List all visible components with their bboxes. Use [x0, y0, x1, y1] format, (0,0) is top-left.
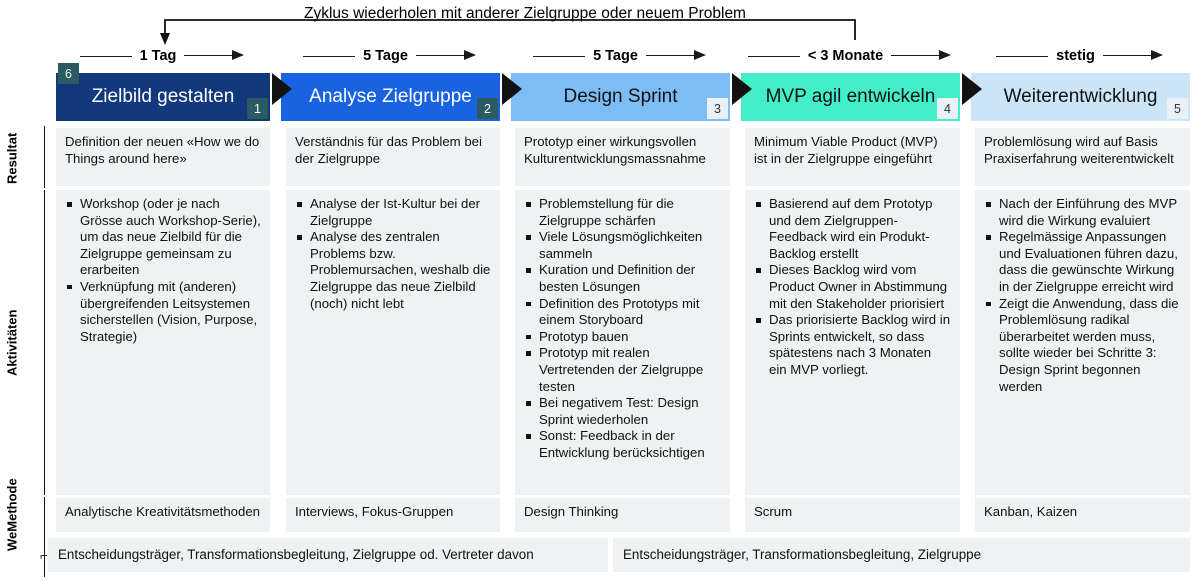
duration-label-5: stetig	[1048, 48, 1103, 64]
phase-title-4: MVP agil entwickeln	[760, 86, 942, 108]
phase-number-badge-2: 2	[477, 98, 498, 119]
phase-title-5: Weiterentwicklung	[998, 86, 1164, 108]
list-item: Nach der Einführung des MVP wird die Wir…	[984, 196, 1181, 229]
list-item: Problemstellung für die Zielgruppe schär…	[524, 196, 721, 229]
list-item: Zeigt die Anwendung, dass die Problemlös…	[984, 296, 1181, 396]
wemethode-cell-1: Analytische Kreativitätsmethoden	[56, 498, 270, 532]
rule-resultat	[44, 126, 45, 188]
duration-cell-3: 5 Tage	[511, 44, 730, 68]
list-item: Prototyp bauen	[524, 329, 721, 346]
phase-banner-2[interactable]: Analyse Zielgruppe2	[281, 73, 500, 121]
cycle-repeat-caption: Zyklus wiederholen mit anderer Zielgrupp…	[290, 4, 760, 23]
aktivitaeten-cell-4: Basierend auf dem Prototyp und dem Zielg…	[745, 190, 960, 495]
list-item: Regelmässige Anpassungen und Evaluatione…	[984, 229, 1181, 295]
duration-arrow-icon	[416, 50, 478, 62]
phase-chevron-icon-4	[962, 73, 982, 105]
resultat-cell-5: Problemlösung wird auf Basis Praxiserfah…	[975, 128, 1190, 186]
wemethode-cell-2: Interviews, Fokus-Gruppen	[286, 498, 500, 532]
duration-cell-2: 5 Tage	[281, 44, 500, 68]
phase-banner-5[interactable]: Weiterentwicklung5	[971, 73, 1190, 121]
phase-title-1: Zielbild gestalten	[86, 86, 241, 108]
list-item: Analyse des zentralen Problems bzw. Prob…	[295, 229, 491, 312]
list-item: Analyse der Ist-Kultur bei der Zielgrupp…	[295, 196, 491, 229]
wemethode-text-1: Analytische Kreativitätsmethoden	[65, 504, 261, 521]
list-item: Kuration und Definition der besten Lösun…	[524, 262, 721, 295]
resultat-cell-1: Definition der neuen «How we do Things a…	[56, 128, 270, 186]
diagram-canvas: Zyklus wiederholen mit anderer Zielgrupp…	[0, 0, 1200, 581]
rule-aktivitaeten	[44, 190, 45, 495]
aktivitaeten-list-2: Analyse der Ist-Kultur bei der Zielgrupp…	[295, 196, 491, 312]
wemethode-text-4: Scrum	[754, 504, 951, 521]
aktivitaeten-list-1: Workshop (oder je nach Grösse auch Works…	[65, 196, 261, 345]
list-item: Workshop (oder je nach Grösse auch Works…	[65, 196, 261, 279]
duration-label-1: 1 Tag	[132, 48, 185, 64]
phase-title-2: Analyse Zielgruppe	[303, 86, 478, 108]
resultat-text-5: Problemlösung wird auf Basis Praxiserfah…	[984, 134, 1181, 167]
resultat-text-1: Definition der neuen «How we do Things a…	[65, 134, 261, 167]
duration-label-3: 5 Tage	[585, 48, 646, 64]
duration-leader-line	[80, 56, 132, 57]
phase-title-3: Design Sprint	[557, 86, 683, 108]
phase-number-badge-4: 4	[937, 98, 958, 119]
row-label-resultat: Resultat	[0, 128, 24, 188]
aktivitaeten-list-5: Nach der Einführung des MVP wird die Wir…	[984, 196, 1181, 395]
aktivitaeten-cell-5: Nach der Einführung des MVP wird die Wir…	[975, 190, 1190, 495]
duration-leader-line	[303, 56, 355, 57]
duration-label-4: < 3 Monate	[800, 48, 891, 64]
wemethode-cell-4: Scrum	[745, 498, 960, 532]
phase-number-badge-5: 5	[1167, 98, 1188, 119]
row-label-aktivitaeten: Aktivitäten	[0, 190, 24, 495]
resultat-text-4: Minimum Viable Product (MVP) ist in der …	[754, 134, 951, 167]
rule-wemethode	[44, 497, 45, 577]
duration-leader-line	[996, 56, 1048, 57]
list-item: Definition des Prototyps mit einem Story…	[524, 296, 721, 329]
duration-arrow-icon	[184, 50, 246, 62]
resultat-cell-3: Prototyp einer wirkungsvollen Kulturentw…	[515, 128, 730, 186]
duration-cell-5: stetig	[971, 44, 1190, 68]
aktivitaeten-cell-2: Analyse der Ist-Kultur bei der Zielgrupp…	[286, 190, 500, 495]
duration-cell-1: 1 Tag	[56, 44, 270, 68]
duration-arrow-icon	[891, 50, 953, 62]
duration-label-2: 5 Tage	[355, 48, 416, 64]
list-item: Verknüpfung mit (anderen) übergreifenden…	[65, 279, 261, 345]
row-label-wemethode: WeMethode	[0, 455, 24, 575]
wemethode-text-2: Interviews, Fokus-Gruppen	[295, 504, 491, 521]
phase-banner-row: Zielbild gestalten16Analyse Zielgruppe2D…	[0, 73, 1200, 121]
phase-number-badge-1: 1	[247, 98, 268, 119]
aktivitaeten-cell-1: Workshop (oder je nach Grösse auch Works…	[56, 190, 270, 495]
footer-roles-left: Entscheidungsträger, Transformationsbegl…	[48, 538, 608, 572]
list-item: Sonst: Feedback in der Entwicklung berüc…	[524, 428, 721, 461]
phase-chevron-icon-1	[272, 73, 292, 105]
phase-banner-1[interactable]: Zielbild gestalten16	[56, 73, 270, 121]
duration-arrow-icon	[1103, 50, 1165, 62]
wemethode-cell-5: Kanban, Kaizen	[975, 498, 1190, 532]
wemethode-text-3: Design Thinking	[524, 504, 721, 521]
list-item: Das priorisierte Backlog wird in Sprints…	[754, 312, 951, 378]
cycle-step-badge: 6	[58, 63, 79, 84]
resultat-text-3: Prototyp einer wirkungsvollen Kulturentw…	[524, 134, 721, 167]
phase-banner-4[interactable]: MVP agil entwickeln4	[741, 73, 960, 121]
footer-roles-right: Entscheidungsträger, Transformationsbegl…	[613, 538, 1190, 572]
duration-cell-4: < 3 Monate	[741, 44, 960, 68]
list-item: Viele Lösungsmöglichkeiten sammeln	[524, 229, 721, 262]
aktivitaeten-cell-3: Problemstellung für die Zielgruppe schär…	[515, 190, 730, 495]
phase-number-badge-3: 3	[707, 98, 728, 119]
footer-tick-icon: ⌐	[40, 548, 48, 563]
duration-leader-line	[533, 56, 585, 57]
list-item: Bei negativem Test: Design Sprint wieder…	[524, 395, 721, 428]
phase-chevron-icon-3	[732, 73, 752, 105]
wemethode-cell-3: Design Thinking	[515, 498, 730, 532]
list-item: Prototyp mit realen Vertretenden der Zie…	[524, 345, 721, 395]
resultat-text-2: Verständnis für das Problem bei der Ziel…	[295, 134, 491, 167]
resultat-cell-4: Minimum Viable Product (MVP) ist in der …	[745, 128, 960, 186]
phase-chevron-icon-2	[502, 73, 522, 105]
aktivitaeten-list-3: Problemstellung für die Zielgruppe schär…	[524, 196, 721, 462]
aktivitaeten-list-4: Basierend auf dem Prototyp und dem Zielg…	[754, 196, 951, 379]
duration-arrow-icon	[646, 50, 708, 62]
phase-banner-3[interactable]: Design Sprint3	[511, 73, 730, 121]
duration-header-row: 1 Tag5 Tage5 Tage< 3 Monatestetig	[0, 44, 1200, 68]
list-item: Basierend auf dem Prototyp und dem Zielg…	[754, 196, 951, 262]
list-item: Dieses Backlog wird vom Product Owner in…	[754, 262, 951, 312]
resultat-cell-2: Verständnis für das Problem bei der Ziel…	[286, 128, 500, 186]
wemethode-text-5: Kanban, Kaizen	[984, 504, 1181, 521]
duration-leader-line	[748, 56, 800, 57]
